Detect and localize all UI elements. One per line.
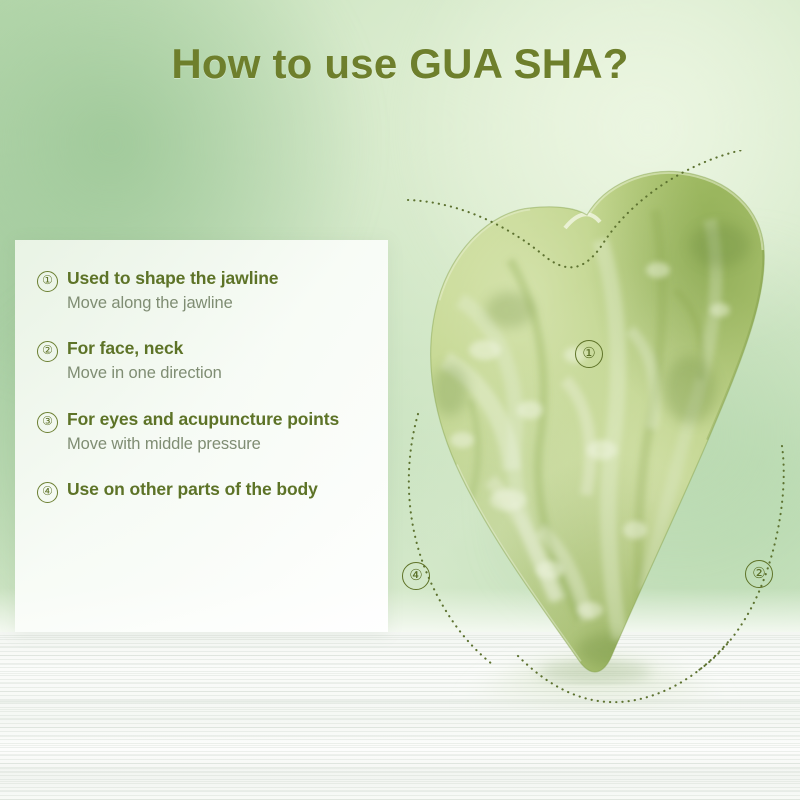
step-number-3: ③ [37, 412, 58, 433]
step-number-2: ② [37, 341, 58, 362]
instructions-panel: ① Used to shape the jawline Move along t… [15, 240, 388, 632]
step-body-2: For face, neck Move in one direction [67, 338, 370, 384]
step-subtitle-2: Move in one direction [67, 363, 370, 384]
step-body-4: Use on other parts of the body [67, 479, 370, 504]
step-number-1: ① [37, 271, 58, 292]
list-item: ④ Use on other parts of the body [37, 479, 370, 504]
guide-curve-2 [696, 446, 784, 672]
gua-sha-stone [390, 150, 800, 710]
gua-sha-svg [390, 150, 800, 710]
step-body-3: For eyes and acupuncture points Move wit… [67, 409, 370, 455]
callout-2: ② [745, 560, 773, 588]
step-number-4: ④ [37, 482, 58, 503]
infographic-canvas: How to use GUA SHA? [0, 0, 800, 800]
step-title-4: Use on other parts of the body [67, 479, 370, 501]
step-body-1: Used to shape the jawline Move along the… [67, 268, 370, 314]
callout-4: ④ [402, 562, 430, 590]
product-illustration: ① ② ③ ④ [390, 150, 800, 710]
table-plank-edge-lower [0, 768, 800, 770]
step-title-3: For eyes and acupuncture points [67, 409, 370, 431]
step-title-1: Used to shape the jawline [67, 268, 370, 290]
step-title-2: For face, neck [67, 338, 370, 360]
callout-1: ① [575, 340, 603, 368]
instructions-list: ① Used to shape the jawline Move along t… [15, 240, 388, 504]
list-item: ① Used to shape the jawline Move along t… [37, 268, 370, 314]
step-subtitle-3: Move with middle pressure [67, 434, 370, 455]
step-subtitle-1: Move along the jawline [67, 293, 370, 314]
list-item: ③ For eyes and acupuncture points Move w… [37, 409, 370, 455]
list-item: ② For face, neck Move in one direction [37, 338, 370, 384]
page-title: How to use GUA SHA? [0, 40, 800, 88]
